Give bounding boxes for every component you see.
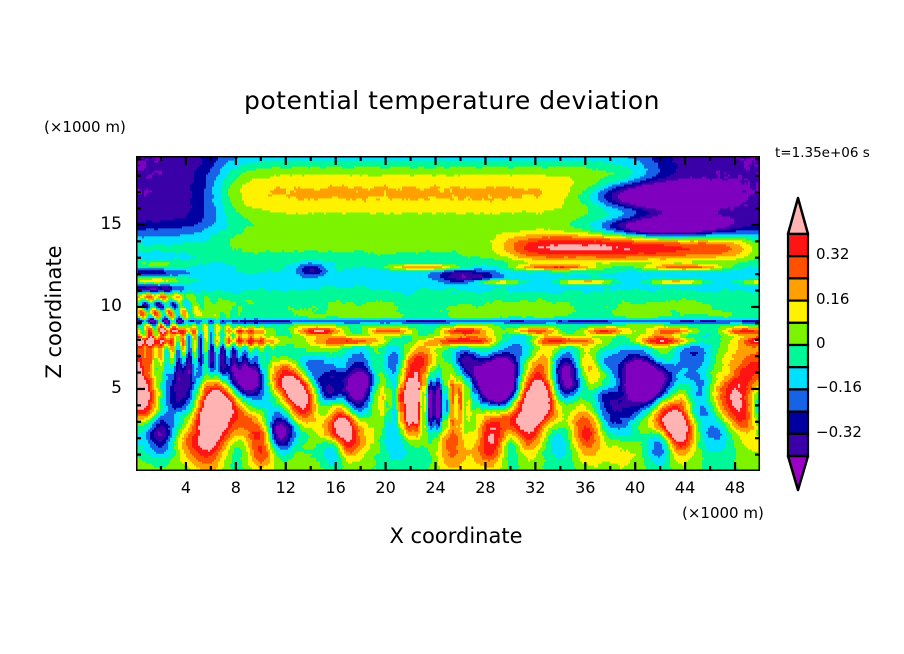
x-tick-label: 24: [416, 478, 456, 497]
x-tick-label: 28: [465, 478, 505, 497]
colorbar-tick-label: 0.32: [816, 245, 849, 263]
x-tick-label: 48: [715, 478, 755, 497]
contour-field: [136, 156, 760, 471]
y-tick-label: 15: [82, 214, 122, 234]
colorbar-tick-label: −0.32: [816, 423, 862, 441]
x-tick-label: 40: [615, 478, 655, 497]
y-axis-unit-label: (×1000 m): [44, 118, 126, 136]
x-axis-unit-label: (×1000 m): [682, 504, 764, 522]
x-tick-label: 20: [366, 478, 406, 497]
x-axis-title: X coordinate: [256, 524, 656, 548]
colorbar: [780, 196, 826, 508]
y-tick-label: 5: [82, 378, 122, 398]
y-tick-label: 10: [82, 296, 122, 316]
colorbar-tick-label: 0: [816, 334, 826, 352]
x-tick-label: 12: [266, 478, 306, 497]
chart-title: potential temperature deviation: [0, 86, 904, 115]
colorbar-tick-label: −0.16: [816, 378, 862, 396]
colorbar-tick-label: 0.16: [816, 290, 849, 308]
x-tick-label: 8: [216, 478, 256, 497]
y-axis-title: Z coordinate: [42, 232, 66, 392]
x-tick-label: 32: [515, 478, 555, 497]
x-tick-label: 36: [565, 478, 605, 497]
x-tick-label: 44: [665, 478, 705, 497]
time-annotation: t=1.35e+06 s: [775, 145, 870, 161]
x-tick-label: 4: [166, 478, 206, 497]
contour-plot: [136, 156, 760, 471]
x-tick-label: 16: [316, 478, 356, 497]
colorbar-bands: [788, 198, 808, 490]
